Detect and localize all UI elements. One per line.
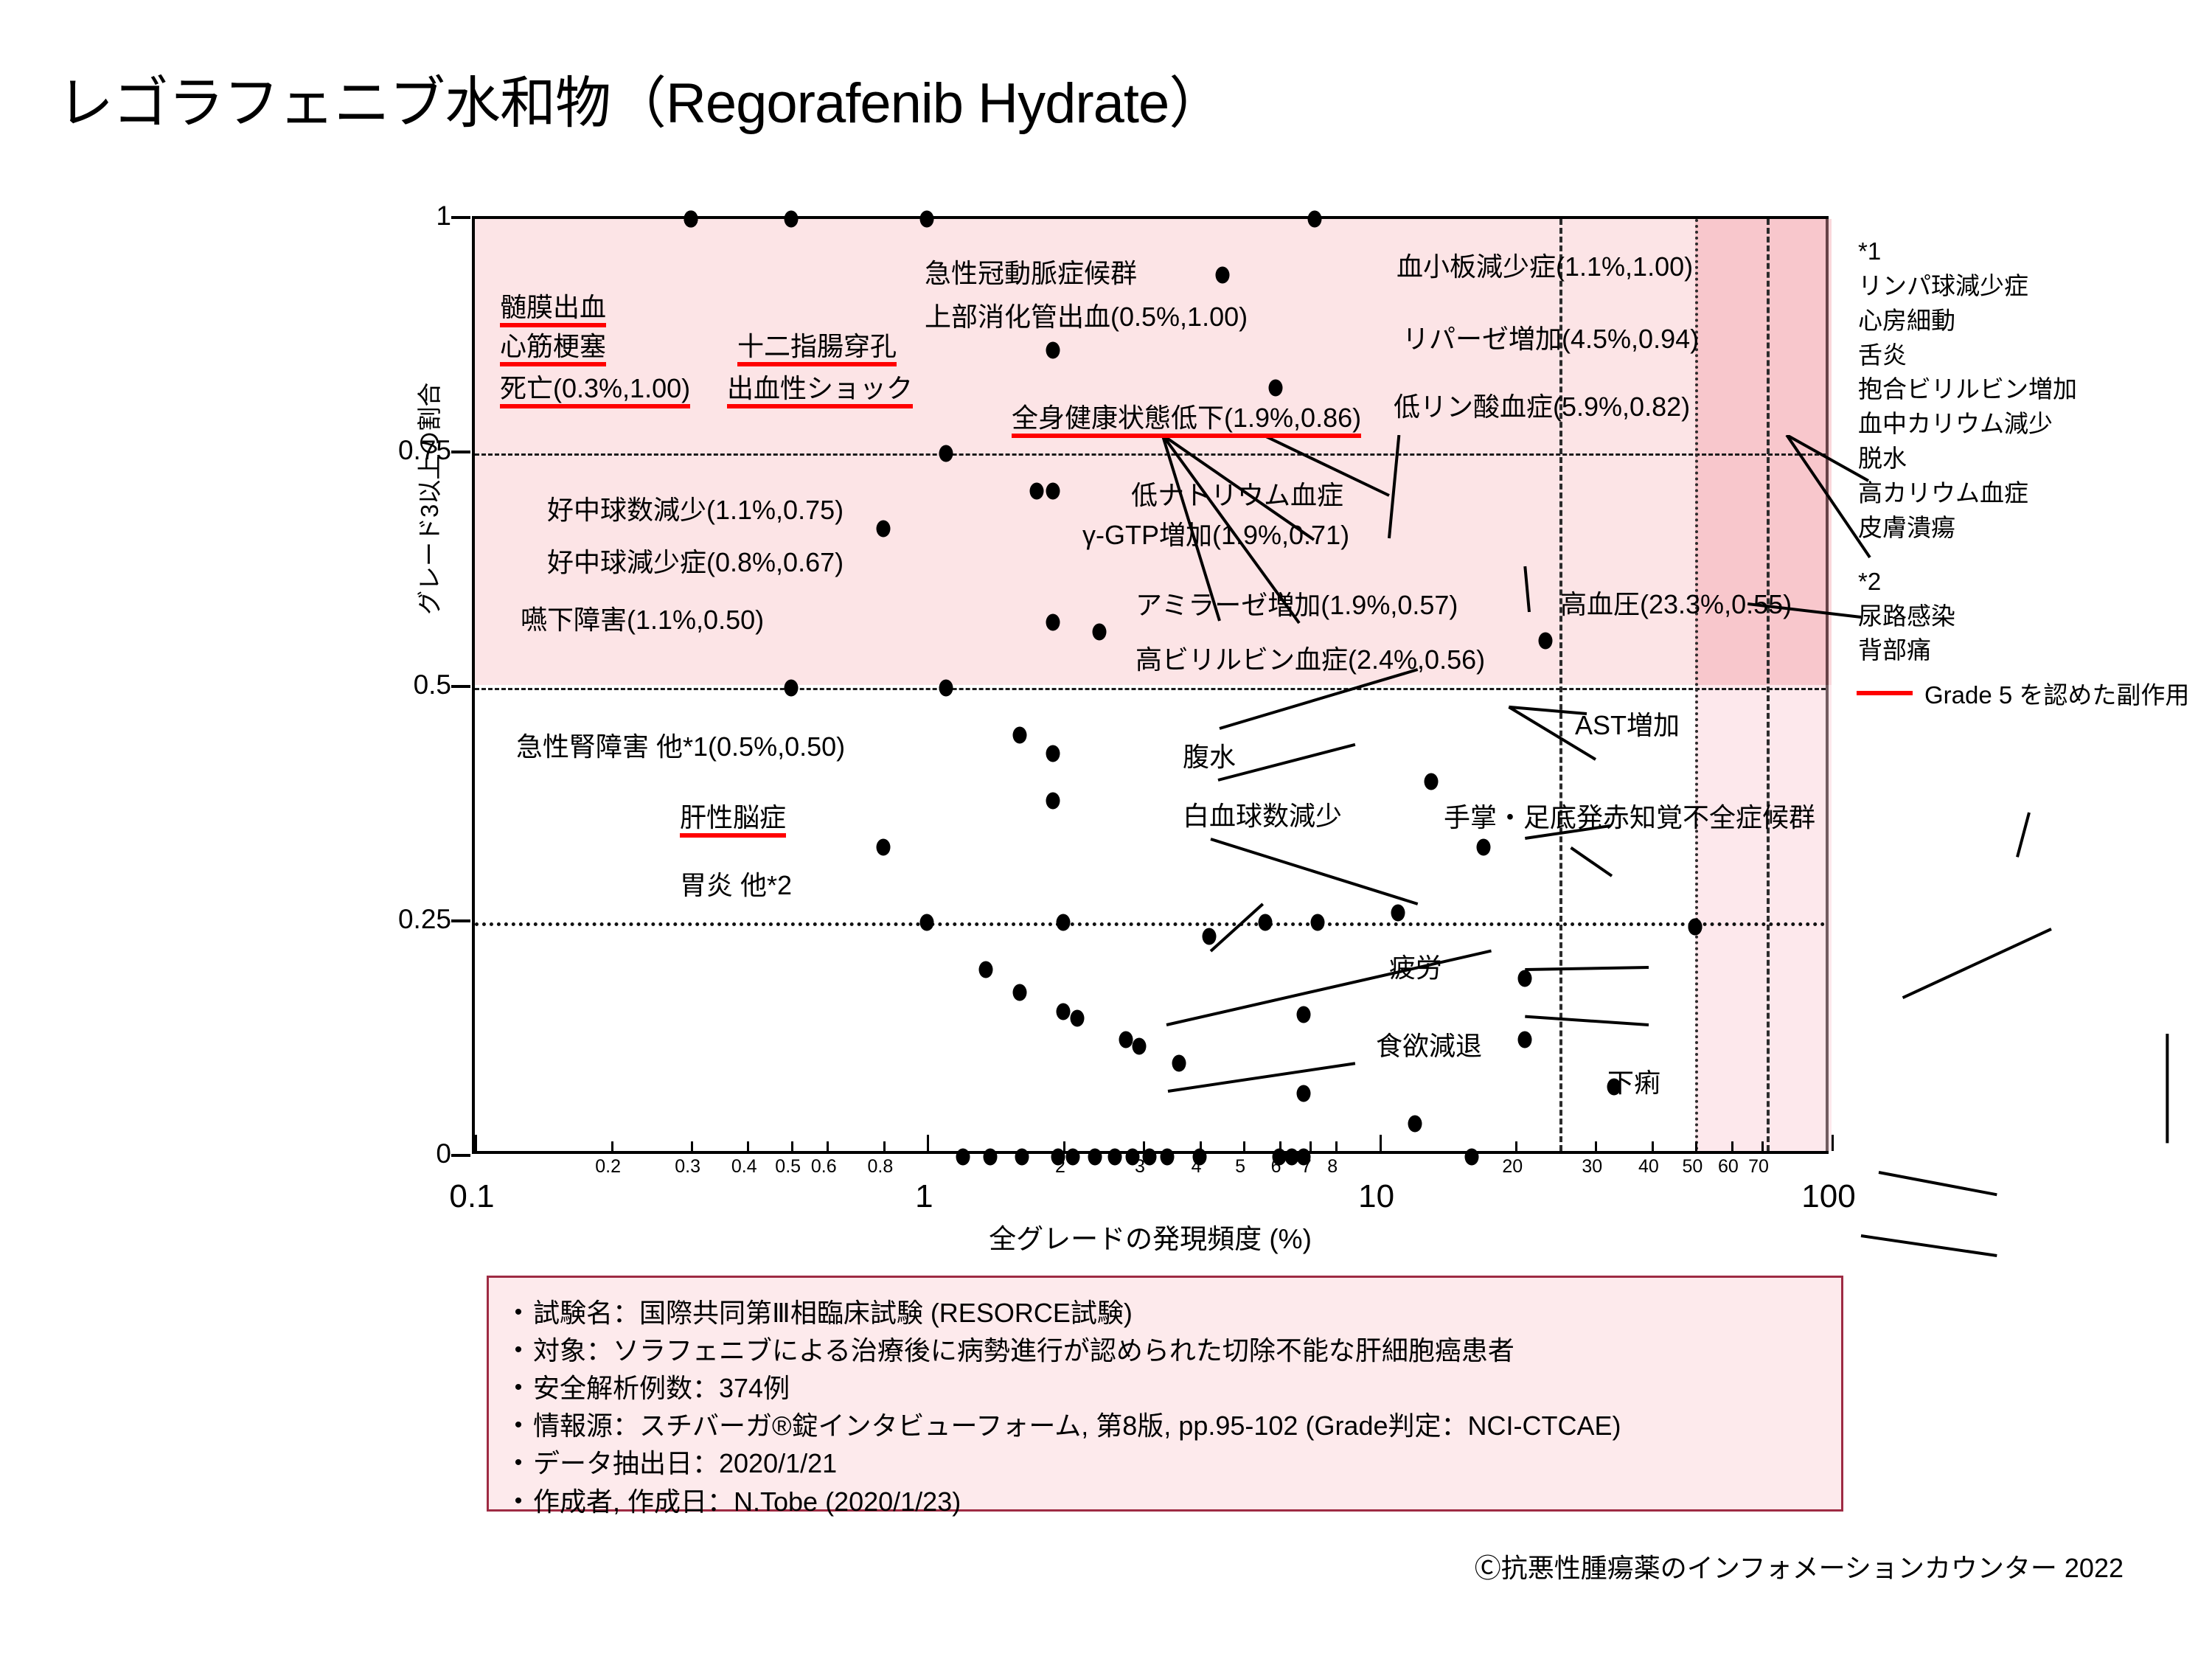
- data-point: [1119, 1032, 1133, 1048]
- x-tick-label-minor: 50: [1682, 1156, 1703, 1178]
- page-title: レゴラフェニブ水和物（Regorafenib Hydrate）: [58, 58, 1224, 139]
- x-tick-label-minor: 7: [1301, 1156, 1312, 1178]
- x-tick-label-major: 100: [1801, 1178, 1855, 1215]
- footnote-star1-item: リンパ球減少症: [1858, 269, 2077, 304]
- annotation-ggtp-increased: γ-GTP増加(1.9%,0.71): [1082, 521, 1349, 549]
- x-tick-mark-minor: [1761, 1141, 1764, 1151]
- x-tick-mark-minor: [1279, 1141, 1281, 1151]
- x-tick-label-minor: 8: [1327, 1156, 1338, 1178]
- x-tick-label-minor: 30: [1582, 1156, 1602, 1178]
- study-info-text: データ抽出日：2020/1/21: [533, 1444, 837, 1482]
- annotation-gastritis: 胃炎 他*2: [680, 872, 792, 900]
- annotation-meningeal-hemorrhage: 髄膜出血: [500, 293, 606, 327]
- data-point: [876, 839, 890, 856]
- data-point: [1518, 970, 1532, 987]
- annotation-hfs: 手掌・足底発赤知覚不全症候群: [1444, 804, 1815, 832]
- x-tick-label-major: 0.1: [449, 1178, 494, 1215]
- bullet-icon: •: [504, 1483, 533, 1520]
- data-point: [1046, 482, 1060, 499]
- hgridline: [475, 453, 1826, 456]
- x-tick-label-minor: 0.6: [811, 1156, 837, 1178]
- data-point: [784, 211, 798, 228]
- hgridline: [475, 922, 1826, 926]
- x-tick-mark-minor: [611, 1141, 613, 1151]
- footnote-star1-item: 高カリウム血症: [1858, 476, 2077, 511]
- study-info-text: 対象：ソラフェニブによる治療後に病勢進行が認められた切除不能な肝細胞癌患者: [533, 1332, 1514, 1369]
- data-point: [1259, 914, 1273, 931]
- x-tick-mark: [475, 1135, 477, 1151]
- bullet-icon: •: [504, 1407, 533, 1444]
- data-point: [1046, 613, 1060, 630]
- footnote-spacer: [1858, 546, 2077, 565]
- data-point: [1688, 919, 1703, 936]
- data-point: [1092, 623, 1106, 640]
- annotation-acute-coronary-syndrome: 急性冠動脈症候群: [925, 260, 1137, 288]
- annotation-thrombocytopenia: 血小板減少症(1.1%,1.00): [1397, 253, 1693, 281]
- footnote-star1-item: 抱合ビリルビン増加: [1858, 372, 2077, 407]
- footnote-star1-item: 舌炎: [1858, 338, 2077, 373]
- x-tick-mark: [1832, 1135, 1834, 1151]
- x-tick-mark-minor: [1652, 1141, 1654, 1151]
- x-axis-title: 全グレードの発現頻度 (%): [472, 1217, 1829, 1256]
- data-point: [1046, 792, 1060, 809]
- leader-line: [1903, 929, 2051, 998]
- leader-line: [1211, 839, 1418, 904]
- bullet-icon: •: [504, 1294, 533, 1331]
- data-point: [1215, 267, 1229, 284]
- data-point: [939, 680, 953, 697]
- annotation-myocardial-infarction: 心筋梗塞: [500, 333, 606, 366]
- data-point: [1012, 726, 1026, 743]
- legend-line-icon: [1857, 691, 1913, 695]
- annotation-neutropenia: 好中球減少症(0.8%,0.67): [547, 549, 844, 577]
- x-tick-label-minor: 70: [1748, 1156, 1769, 1178]
- study-info-item: •試験名：国際共同第Ⅲ相臨床試験 (RESORCE試験): [504, 1294, 1826, 1332]
- x-tick-mark: [1380, 1135, 1382, 1151]
- y-tick-label: 0: [436, 1138, 451, 1169]
- copyright-footer: Ⓒ抗悪性腫瘍薬のインフォメーションカウンター 2022: [0, 1547, 2124, 1585]
- annotation-hypophosphatemia: 低リン酸血症(5.9%,0.82): [1394, 393, 1690, 421]
- y-axis-tick-labels: 10.750.50.250: [383, 216, 451, 1154]
- study-info-item: •作成者, 作成日：N.Tobe (2020/1/23): [504, 1483, 1826, 1520]
- data-point: [1012, 984, 1026, 1001]
- y-tick-label: 1: [436, 201, 451, 232]
- x-tick-label-major: 10: [1358, 1178, 1394, 1215]
- x-tick-mark: [927, 1135, 929, 1151]
- legend-label: Grade 5 を認めた副作用: [1924, 675, 2189, 711]
- data-point: [876, 520, 890, 537]
- x-tick-label-minor: 5: [1235, 1156, 1245, 1178]
- scatter-plot-area: [472, 216, 1829, 1154]
- y-tick-label: 0.5: [414, 669, 451, 700]
- data-point: [920, 211, 934, 228]
- annotation-appetite-loss: 食欲減退: [1376, 1032, 1482, 1060]
- annotation-acute-kidney-injury: 急性腎障害 他*1(0.5%,0.50): [516, 733, 845, 761]
- footnote-star2-title: *2: [1858, 565, 2077, 599]
- x-tick-label-minor: 0.4: [731, 1156, 757, 1178]
- annotation-lipase-increased: リパーゼ増加(4.5%,0.94): [1402, 325, 1699, 353]
- leader-line: [1571, 848, 1612, 876]
- x-tick-label-minor: 4: [1192, 1156, 1202, 1178]
- x-tick-label-minor: 0.8: [868, 1156, 894, 1178]
- leader-line: [1211, 904, 1263, 951]
- x-tick-label-minor: 0.3: [675, 1156, 700, 1178]
- footnote-star2-item: 尿路感染: [1858, 599, 2077, 634]
- x-tick-label-minor: 0.5: [775, 1156, 801, 1178]
- data-point: [1308, 211, 1322, 228]
- annotation-death: 死亡(0.3%,1.00): [500, 375, 690, 408]
- x-tick-mark-minor: [1143, 1141, 1145, 1151]
- study-info-item: •安全解析例数：374例: [504, 1369, 1826, 1407]
- footnote-star1-item: 皮膚潰瘍: [1858, 511, 2077, 546]
- data-point: [684, 211, 698, 228]
- footnote-star1-item: 脱水: [1858, 442, 2077, 476]
- data-point: [1538, 633, 1552, 650]
- legend-grade5: Grade 5 を認めた副作用: [1857, 675, 2189, 711]
- x-tick-label-minor: 20: [1502, 1156, 1523, 1178]
- bullet-icon: •: [504, 1369, 533, 1406]
- annotation-hemorrhagic-shock: 出血性ショック: [727, 375, 913, 408]
- annotation-dysphagia: 嚥下障害(1.1%,0.50): [521, 606, 764, 634]
- study-info-text: 試験名：国際共同第Ⅲ相臨床試験 (RESORCE試験): [533, 1294, 1133, 1332]
- y-tick-mark: [451, 451, 470, 453]
- leader-line: [1525, 1017, 1649, 1025]
- footnote-star1-item: 心房細動: [1858, 304, 2077, 338]
- hgridline: [475, 688, 1826, 690]
- data-point: [1172, 1054, 1186, 1071]
- x-tick-label-minor: 6: [1271, 1156, 1281, 1178]
- annotation-neutrophil-count-decreased: 好中球数減少(1.1%,0.75): [547, 496, 844, 524]
- data-point: [1269, 379, 1283, 396]
- y-tick-label: 0.25: [398, 904, 451, 935]
- x-tick-mark-minor: [1063, 1141, 1065, 1151]
- annotation-upper-gi-bleeding: 上部消化管出血(0.5%,1.00): [925, 303, 1248, 331]
- data-point: [1133, 1037, 1147, 1054]
- leader-line: [1168, 1063, 1355, 1091]
- data-point: [1424, 773, 1438, 790]
- x-tick-mark-minor: [1515, 1141, 1517, 1151]
- x-tick-mark-minor: [691, 1141, 693, 1151]
- annotation-ascites: 腹水: [1183, 743, 1236, 771]
- vgridline: [1767, 219, 1770, 1151]
- data-point: [1202, 928, 1216, 945]
- annotation-hyperbilirubinemia: 高ビリルビン血症(2.4%,0.56): [1135, 646, 1485, 674]
- x-tick-mark-minor: [1200, 1141, 1202, 1151]
- data-point: [1391, 905, 1405, 922]
- x-tick-mark-minor: [883, 1141, 886, 1151]
- study-info-text: 情報源：スチバーガ®錠インタビューフォーム, 第8版, pp.95-102 (G…: [533, 1407, 1621, 1444]
- data-point: [1477, 839, 1491, 856]
- x-tick-label-minor: 2: [1055, 1156, 1065, 1178]
- annotation-hepatic-encephalopathy: 肝性脳症: [680, 804, 786, 838]
- bullet-icon: •: [504, 1444, 533, 1481]
- annotation-diarrhea: 下痢: [1607, 1069, 1660, 1097]
- data-point: [1310, 914, 1324, 931]
- y-tick-mark: [451, 919, 470, 922]
- annotation-hypertension: 高血圧(23.3%,0.55): [1560, 591, 1792, 619]
- x-tick-mark-minor: [1243, 1141, 1245, 1151]
- annotation-hyponatremia: 低ナトリウム血症: [1131, 481, 1343, 509]
- data-point: [1030, 482, 1044, 499]
- data-point: [1056, 1003, 1070, 1020]
- annotation-fatigue: 疲労: [1389, 954, 1442, 982]
- annotation-duodenal-perforation: 十二指腸穿孔: [737, 333, 897, 366]
- data-point: [1046, 342, 1060, 359]
- data-point: [1408, 1116, 1422, 1133]
- leader-line: [1218, 745, 1355, 780]
- x-tick-mark-minor: [1595, 1141, 1597, 1151]
- vgridline: [1695, 219, 1698, 1151]
- data-point: [1518, 1032, 1532, 1048]
- study-info-text: 安全解析例数：374例: [533, 1369, 790, 1407]
- data-point: [1071, 1009, 1085, 1026]
- x-tick-label-minor: 0.2: [595, 1156, 621, 1178]
- data-point: [1046, 745, 1060, 762]
- y-tick-mark: [451, 685, 470, 688]
- x-axis-tick-labels: 0.11101000.20.30.40.50.60.82345678203040…: [472, 1159, 1829, 1218]
- x-tick-label-minor: 60: [1718, 1156, 1739, 1178]
- x-tick-mark-minor: [1695, 1141, 1697, 1151]
- study-info-item: •データ抽出日：2020/1/21: [504, 1444, 1826, 1482]
- right-shaded-band-lower: [1695, 685, 1832, 1151]
- leader-line: [1525, 967, 1649, 970]
- leader-line: [1879, 1172, 1997, 1194]
- annotation-general-health-decline: 全身健康状態低下(1.9%,0.86): [1012, 404, 1361, 438]
- x-tick-mark-minor: [1310, 1141, 1312, 1151]
- data-point: [939, 445, 953, 462]
- x-tick-mark-minor: [827, 1141, 829, 1151]
- footnote-star1-item: 血中カリウム減少: [1858, 407, 2077, 442]
- y-tick-label: 0.75: [398, 435, 451, 466]
- study-info-item: •対象：ソラフェニブによる治療後に病勢進行が認められた切除不能な肝細胞癌患者: [504, 1332, 1826, 1369]
- vgridline: [1559, 219, 1562, 1151]
- footnote-list: *1リンパ球減少症心房細動舌炎抱合ビリルビン増加血中カリウム減少脱水高カリウム血…: [1858, 234, 2077, 668]
- footnote-star2-item: 背部痛: [1858, 633, 2077, 668]
- x-tick-label-major: 1: [915, 1178, 933, 1215]
- x-tick-label-minor: 3: [1135, 1156, 1145, 1178]
- x-tick-label-minor: 40: [1638, 1156, 1659, 1178]
- x-tick-mark-minor: [747, 1141, 749, 1151]
- data-point: [1296, 1085, 1310, 1102]
- x-tick-mark-minor: [791, 1141, 793, 1151]
- y-tick-mark: [451, 1154, 470, 1157]
- x-tick-mark-minor: [1731, 1141, 1733, 1151]
- leader-line: [1166, 951, 1492, 1025]
- leader-line: [2017, 813, 2029, 857]
- data-point: [979, 961, 993, 978]
- annotation-ast-increased: AST増加: [1575, 712, 1680, 740]
- data-point: [920, 914, 934, 931]
- data-point: [1296, 1006, 1310, 1023]
- bullet-icon: •: [504, 1332, 533, 1368]
- y-tick-mark: [451, 216, 470, 219]
- study-info-text: 作成者, 作成日：N.Tobe (2020/1/23): [533, 1483, 961, 1520]
- x-tick-mark-minor: [1335, 1141, 1338, 1151]
- annotation-amylase-increased: アミラーゼ増加(1.9%,0.57): [1135, 591, 1458, 619]
- study-info-box: •試験名：国際共同第Ⅲ相臨床試験 (RESORCE試験)•対象：ソラフェニブによ…: [487, 1276, 1843, 1512]
- study-info-item: •情報源：スチバーガ®錠インタビューフォーム, 第8版, pp.95-102 (…: [504, 1407, 1826, 1444]
- leader-line: [1861, 1236, 1997, 1256]
- data-point: [784, 680, 798, 697]
- data-point: [1056, 914, 1070, 931]
- annotation-wbc-decreased: 白血球数減少: [1183, 802, 1342, 830]
- footnote-star1-title: *1: [1858, 234, 2077, 269]
